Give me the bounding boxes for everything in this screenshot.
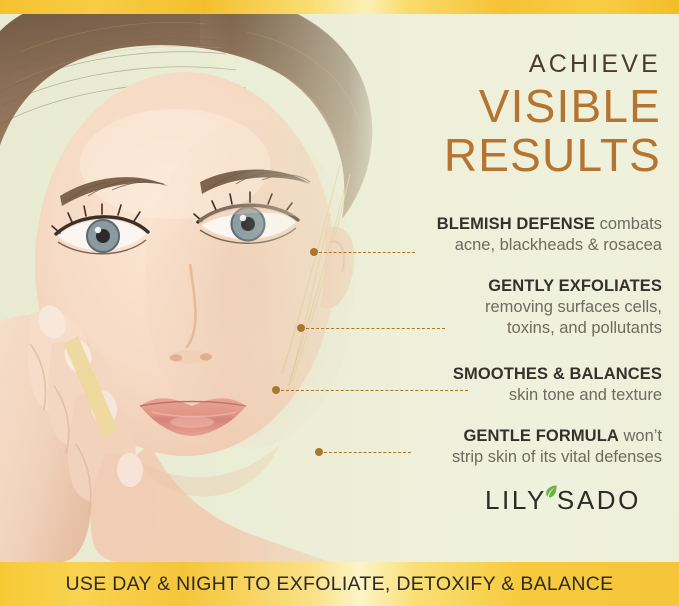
leader-dash <box>306 328 445 329</box>
benefit-title: SMOOTHES & BALANCES <box>453 365 662 383</box>
leader-dot-dash-icon <box>310 251 415 253</box>
brand-name-part-1: LILY <box>485 487 547 513</box>
leader-dash <box>319 252 415 253</box>
leader-dot <box>297 324 305 332</box>
leader-dash <box>281 390 468 391</box>
footer-tagline: USE DAY & NIGHT TO EXFOLIATE, DETOXIFY &… <box>66 573 614 596</box>
leader-dash <box>324 452 411 453</box>
benefit-title-suffix: combats <box>595 215 662 233</box>
leader-dot <box>272 386 280 394</box>
benefit-item: GENTLE FORMULA won’t strip skin of its v… <box>102 426 662 474</box>
leader-dot-dash-icon <box>315 451 411 453</box>
benefit-item: SMOOTHES & BALANCES skin tone and textur… <box>102 364 662 412</box>
benefit-title: GENTLY EXFOLIATES <box>488 277 662 295</box>
benefits-list: BLEMISH DEFENSE combats acne, blackheads… <box>102 214 662 474</box>
bottom-gold-band: USE DAY & NIGHT TO EXFOLIATE, DETOXIFY &… <box>0 562 679 606</box>
benefit-item: BLEMISH DEFENSE combats acne, blackheads… <box>102 214 662 262</box>
benefit-title: BLEMISH DEFENSE <box>437 215 595 233</box>
benefit-item: GENTLY EXFOLIATES removing surfaces cell… <box>102 276 662 350</box>
leader-dot-dash-icon <box>297 327 445 329</box>
benefit-title-line: GENTLY EXFOLIATES <box>102 276 662 297</box>
leader-dot-dash-icon <box>272 389 468 391</box>
headline-line-1: VISIBLE <box>444 82 661 131</box>
benefit-title-line: BLEMISH DEFENSE combats <box>102 214 662 235</box>
brand-logo: LILY SADO <box>485 487 641 513</box>
top-gold-band <box>0 0 679 14</box>
benefit-title-line: SMOOTHES & BALANCES <box>102 364 662 385</box>
headline-block: ACHIEVE VISIBLE RESULTS <box>444 52 661 180</box>
benefit-title: GENTLE FORMULA <box>464 427 619 445</box>
leader-dot <box>310 248 318 256</box>
leader-dot <box>315 448 323 456</box>
benefit-body: removing surfaces cells, <box>102 297 662 318</box>
brand-name-part-2: SADO <box>557 487 641 513</box>
headline-line-2: RESULTS <box>444 131 661 180</box>
benefit-title-line: GENTLE FORMULA won’t <box>102 426 662 447</box>
benefit-title-suffix: won’t <box>619 427 662 445</box>
advertisement-banner: ACHIEVE VISIBLE RESULTS BLEMISH DEFENSE … <box>0 0 679 606</box>
headline-kicker: ACHIEVE <box>444 52 661 77</box>
